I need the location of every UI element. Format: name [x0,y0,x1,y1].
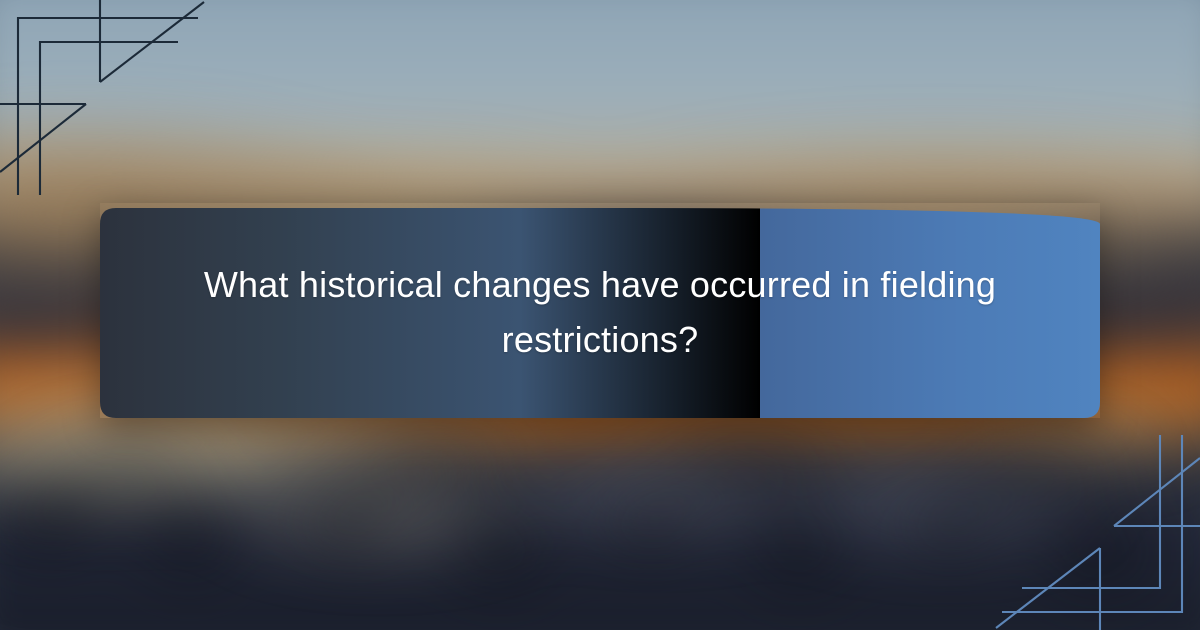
corner-bracket-bottom-right-icon [990,435,1200,630]
screenshot-stage: What historical changes have occurred in… [0,0,1200,630]
question-card: What historical changes have occurred in… [100,203,1100,418]
corner-bracket-top-left-icon [0,0,210,195]
question-text: What historical changes have occurred in… [160,254,1040,367]
